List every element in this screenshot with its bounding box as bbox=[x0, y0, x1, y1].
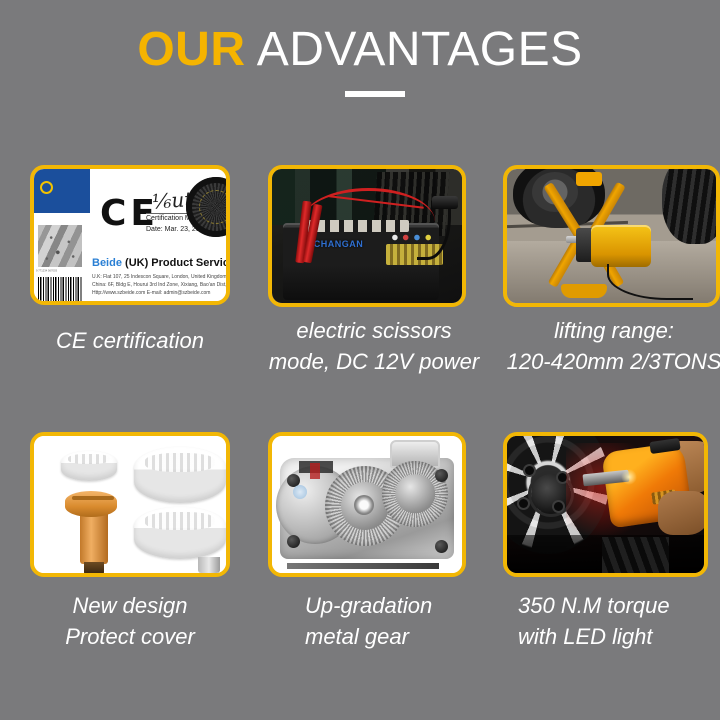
ce-certificate-image: 9 771234 567003 9 771234 567003 CE ⅙𝑢𝑡𝑡ℓ… bbox=[34, 169, 226, 301]
page-title-rest: ADVANTAGES bbox=[246, 23, 583, 76]
gearbox-image bbox=[272, 436, 462, 573]
cover-pad-large bbox=[134, 447, 226, 503]
address-line-3: Http://www.szbeide.com E-mail: admin@szb… bbox=[92, 289, 230, 297]
feature-caption-ce-certification: CE certification bbox=[30, 325, 230, 356]
feature-card-protect-cover[interactable] bbox=[30, 432, 230, 577]
cover-ribs bbox=[145, 512, 215, 530]
lug-nut bbox=[554, 502, 563, 511]
lug-nut bbox=[525, 466, 534, 475]
lug-nut bbox=[519, 499, 528, 508]
feature-card-torque-led[interactable] bbox=[503, 432, 708, 577]
advantages-grid: 9 771234 567003 9 771234 567003 CE ⅙𝑢𝑡𝑡ℓ… bbox=[0, 140, 720, 720]
caption-line-2: Protect cover bbox=[30, 621, 230, 652]
feature-caption-lifting-range: lifting range: 120-420mm 2/3TONS bbox=[503, 315, 720, 377]
caption-line-1: electric scissors bbox=[296, 318, 451, 343]
orange-adapter-head bbox=[65, 491, 117, 517]
tire-tread bbox=[602, 537, 669, 573]
jack-base-foot bbox=[561, 284, 607, 298]
car-battery-image: CHANGAN bbox=[272, 169, 462, 303]
feature-caption-electric-scissors: electric scissors mode, DC 12V power bbox=[268, 315, 480, 377]
eu-flag-icon bbox=[34, 169, 90, 213]
power-plug bbox=[432, 196, 458, 209]
caption-line-2: metal gear bbox=[305, 621, 505, 652]
certificate-microtext: 9 771234 567003 bbox=[36, 269, 77, 276]
caption-line-1: Up-gradation bbox=[305, 593, 432, 618]
page-title: OUR ADVANTAGES bbox=[0, 22, 720, 77]
cover-ribs bbox=[145, 453, 215, 472]
orange-adapter-tip bbox=[84, 562, 104, 574]
led-light-icon bbox=[621, 469, 637, 485]
barcode-number: 9 771234 567003 bbox=[38, 300, 84, 305]
page-header: OUR ADVANTAGES bbox=[0, 0, 720, 140]
orange-adapter-slot bbox=[72, 496, 114, 500]
feature-caption-torque-led: 350 N.M torque with LED light bbox=[518, 590, 720, 652]
address-line-1: U.K: Flat 107, 25 Indescon Square, Londo… bbox=[92, 273, 230, 281]
royal-crest-icon bbox=[38, 225, 82, 267]
jack-motor-cap bbox=[591, 225, 651, 267]
company-brand: Beide bbox=[92, 257, 122, 269]
gearbox-base-shadow bbox=[287, 563, 439, 569]
battery-brand-label: CHANGAN bbox=[314, 239, 364, 249]
address-line-2: China: 6F, Bldg E, Hourui 3rd Ind Zone, … bbox=[92, 281, 230, 289]
feature-caption-protect-cover: New design Protect cover bbox=[30, 590, 230, 652]
protect-covers-image bbox=[34, 436, 226, 573]
cover-pad-small bbox=[61, 451, 117, 481]
housing-bolt bbox=[287, 535, 300, 548]
jack-top-saddle bbox=[576, 172, 602, 186]
caption-line-1: lifting range: bbox=[554, 318, 674, 343]
company-name: Beide (UK) Product Service Limited bbox=[92, 257, 230, 269]
company-address: U.K: Flat 107, 25 Indescon Square, Londo… bbox=[92, 273, 230, 297]
caption-line-1: New design bbox=[73, 593, 188, 618]
feature-card-electric-scissors[interactable]: CHANGAN bbox=[268, 165, 466, 307]
scissor-jack-image bbox=[507, 169, 716, 303]
feature-caption-metal-gear: Up-gradation metal gear bbox=[305, 590, 505, 652]
barcode-icon bbox=[38, 277, 82, 301]
impact-wrench-image bbox=[507, 436, 704, 573]
caption-line-2: mode, DC 12V power bbox=[268, 346, 480, 377]
cover-metal-stem bbox=[198, 557, 220, 573]
orange-adapter-shaft bbox=[80, 510, 108, 564]
caption-line-1: CE certification bbox=[56, 328, 204, 353]
company-suffix: (UK) Product Service Limited bbox=[122, 257, 230, 269]
rear-tire bbox=[662, 169, 716, 244]
gearbox-label-red bbox=[310, 463, 320, 479]
title-underline bbox=[345, 91, 405, 97]
feature-card-ce-certification[interactable]: 9 771234 567003 9 771234 567003 CE ⅙𝑢𝑡𝑡ℓ… bbox=[30, 165, 230, 305]
gear-center-hub bbox=[354, 495, 374, 515]
cover-pad-with-stem bbox=[134, 507, 226, 559]
page-title-accent: OUR bbox=[137, 23, 245, 76]
hand-lower bbox=[658, 491, 704, 535]
feature-card-lifting-range[interactable] bbox=[503, 165, 720, 307]
caption-line-1: 350 N.M torque bbox=[518, 593, 670, 618]
caption-line-2: 120-420mm 2/3TONS bbox=[503, 346, 720, 377]
caption-line-2: with LED light bbox=[518, 621, 720, 652]
cover-ribs bbox=[68, 454, 111, 464]
feature-card-metal-gear[interactable] bbox=[268, 432, 466, 577]
